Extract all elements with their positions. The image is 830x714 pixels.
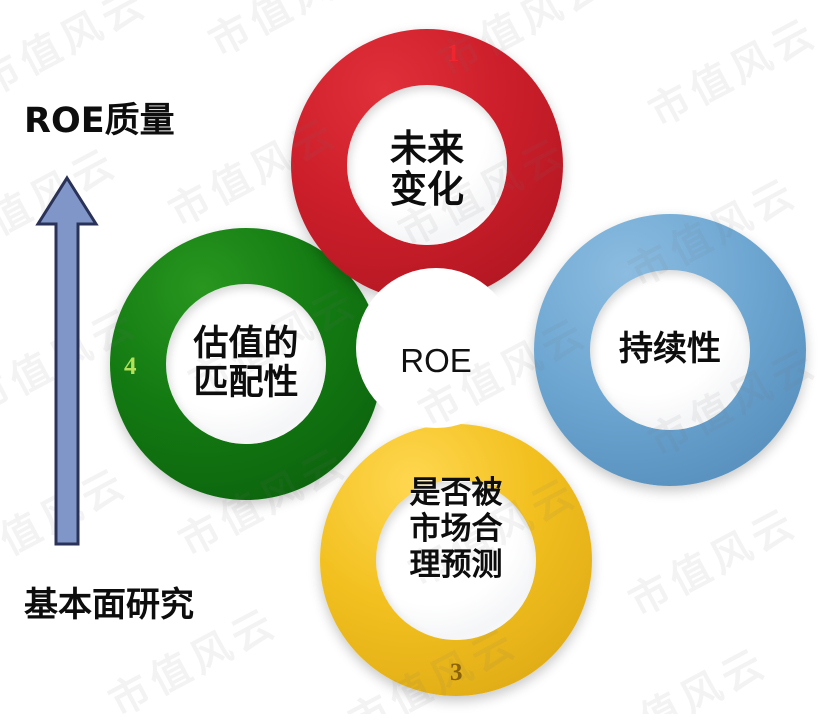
ring-hole-blue	[590, 270, 750, 430]
ring-hole-yellow	[376, 480, 536, 640]
roe-quality-diagram: 市值风云 市值风云 市值风云 市值风云 市值风云 市值风云 市值风云 市值风云 …	[0, 0, 830, 714]
up-arrow-icon	[34, 172, 100, 550]
axis-label-top: ROE质量	[24, 92, 175, 143]
ring-hole-red	[347, 85, 507, 245]
ring-hole-green	[166, 284, 326, 444]
center-label-roe: ROE	[371, 342, 501, 380]
axis-label-bottom: 基本面研究	[24, 577, 194, 626]
